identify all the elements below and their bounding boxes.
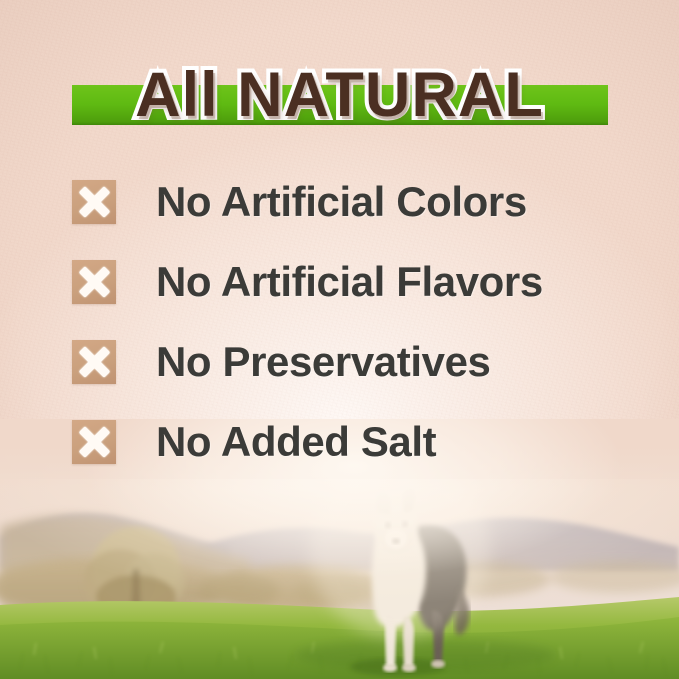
- list-item: No Artificial Colors: [72, 176, 632, 256]
- list-item: No Artificial Flavors: [72, 256, 632, 336]
- claim-label: No Preservatives: [156, 336, 490, 388]
- page-title: All NATURAL: [0, 52, 679, 138]
- list-item: No Preservatives: [72, 336, 632, 416]
- x-mark-icon: [72, 340, 116, 384]
- claim-label: No Artificial Colors: [156, 176, 527, 228]
- list-item: No Added Salt: [72, 416, 632, 496]
- claim-label: No Artificial Flavors: [156, 256, 543, 308]
- x-mark-icon: [72, 420, 116, 464]
- claim-label: No Added Salt: [156, 416, 436, 468]
- x-mark-icon: [72, 260, 116, 304]
- all-natural-poster: All NATURAL No Artificial Colors No Arti…: [0, 0, 679, 679]
- headline-banner: All NATURAL: [0, 52, 679, 138]
- x-mark-icon: [72, 180, 116, 224]
- claims-list: No Artificial Colors No Artificial Flavo…: [72, 176, 632, 496]
